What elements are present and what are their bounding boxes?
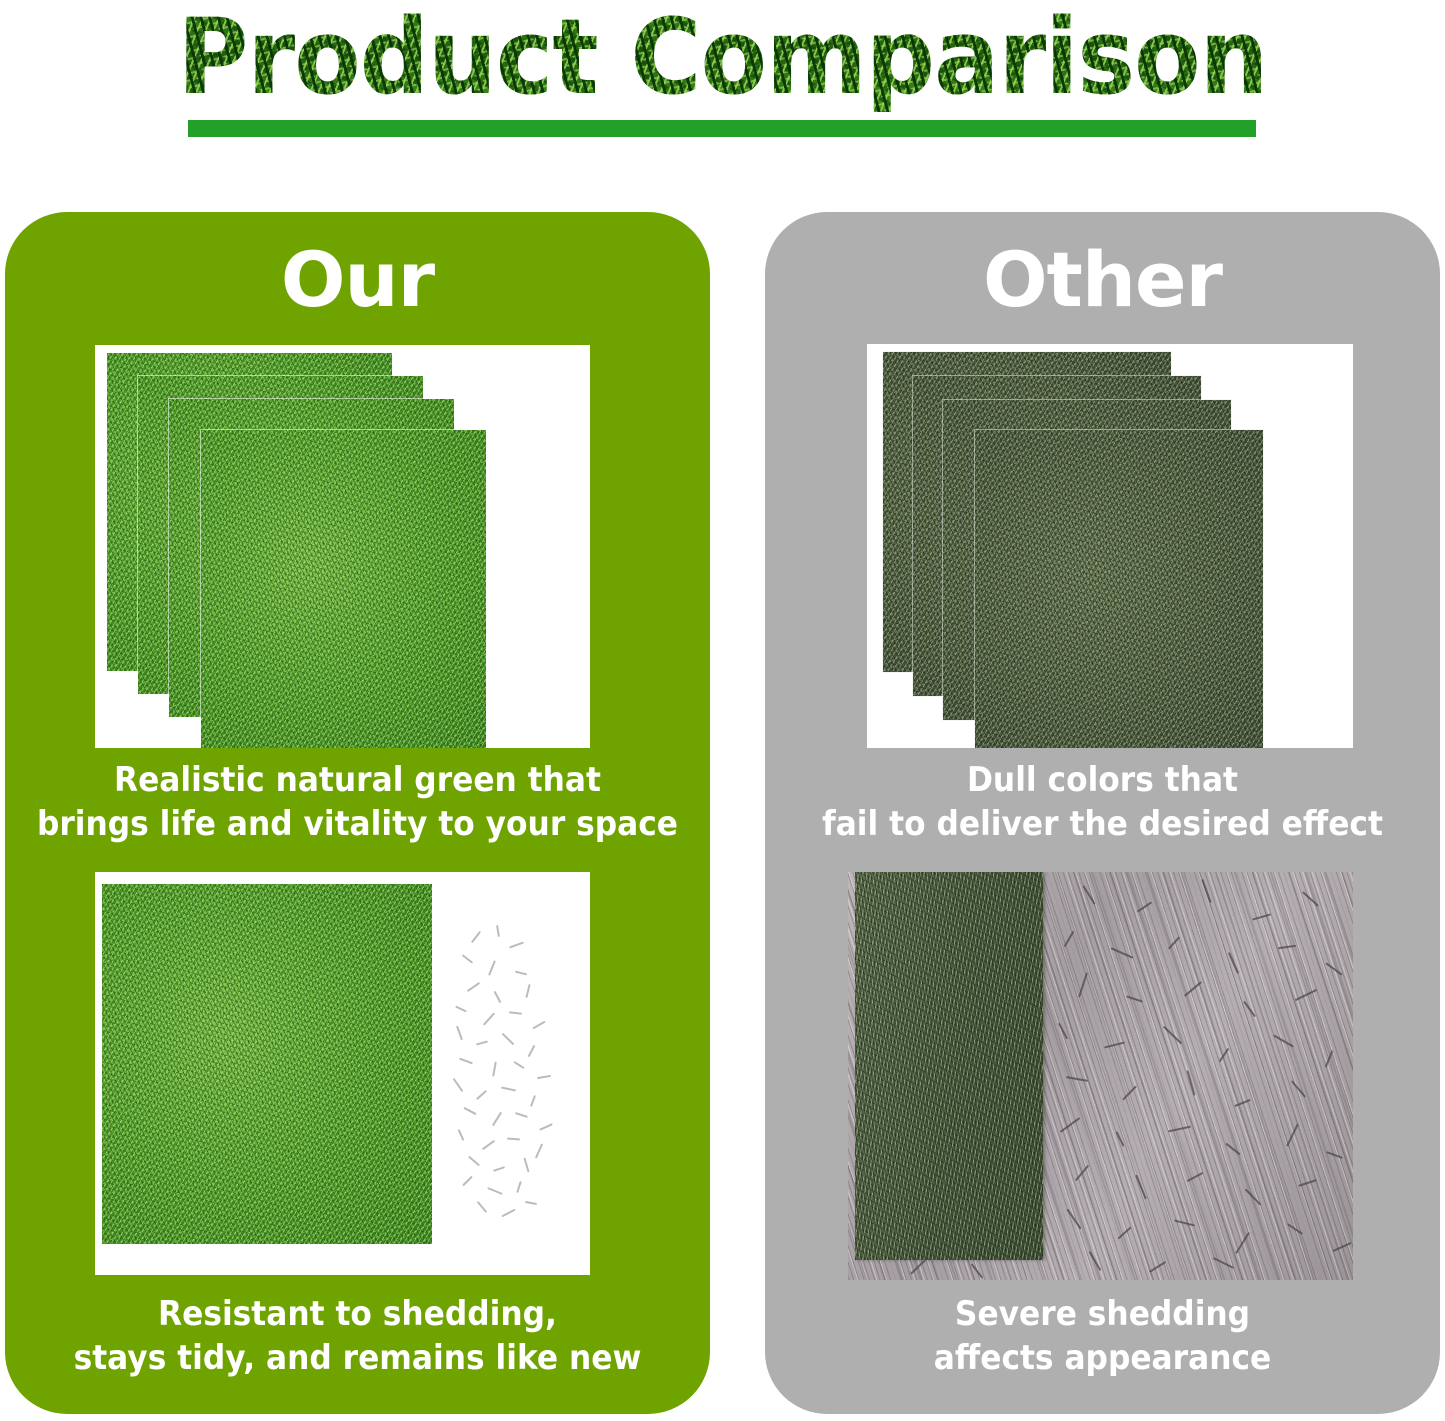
loose-fiber bbox=[467, 982, 480, 992]
loose-fiber bbox=[462, 1176, 473, 1187]
loose-fiber bbox=[492, 1061, 497, 1076]
panel-our-heading: Our bbox=[5, 240, 710, 320]
loose-fiber bbox=[476, 1040, 488, 1045]
loose-fiber bbox=[463, 1107, 476, 1115]
page-title: Product Comparison bbox=[51, 2, 1395, 112]
loose-fiber bbox=[456, 1026, 463, 1041]
image-our-stacked-mats bbox=[95, 345, 590, 748]
loose-fiber bbox=[477, 1201, 488, 1213]
title-underline-bar bbox=[188, 120, 1256, 137]
caption-other-color: Dull colors that fail to deliver the des… bbox=[792, 758, 1413, 846]
loose-fiber bbox=[515, 971, 527, 976]
loose-fiber bbox=[482, 1140, 495, 1150]
loose-fiber bbox=[476, 1090, 487, 1100]
loose-fiber bbox=[483, 1012, 495, 1025]
loose-fiber bbox=[459, 1058, 473, 1065]
loose-fiber bbox=[494, 991, 502, 1003]
loose-fiber bbox=[501, 1086, 516, 1091]
loose-fiber bbox=[525, 1201, 537, 1205]
panel-other: Other Dull colors that fail to deliver t… bbox=[765, 212, 1440, 1414]
loose-fiber bbox=[502, 1033, 515, 1046]
loose-fiber bbox=[537, 1075, 551, 1079]
loose-fiber bbox=[530, 1095, 536, 1107]
image-our-no-shedding bbox=[95, 872, 590, 1275]
loose-fiber bbox=[507, 1138, 520, 1141]
loose-fiber bbox=[496, 925, 500, 937]
loose-fiber bbox=[492, 1112, 502, 1127]
panel-other-heading: Other bbox=[765, 240, 1440, 320]
loose-fiber bbox=[468, 1156, 480, 1167]
loose-fiber bbox=[509, 1011, 522, 1015]
loose-fiber bbox=[462, 954, 473, 964]
loose-fiber bbox=[515, 1112, 528, 1118]
loose-fiber bbox=[539, 1123, 553, 1131]
loose-fiber bbox=[513, 1061, 524, 1069]
image-other-stacked-mats bbox=[867, 344, 1353, 748]
loose-fiber bbox=[471, 931, 481, 943]
loose-fiber bbox=[523, 1158, 529, 1173]
caption-our-color: Realistic natural green that brings life… bbox=[33, 758, 682, 846]
caption-other-shedding: Severe shedding affects appearance bbox=[792, 1292, 1413, 1380]
loose-fiber bbox=[528, 1045, 536, 1057]
title-banner: Product Comparison bbox=[0, 0, 1445, 200]
loose-fiber bbox=[458, 1129, 465, 1141]
loose-fiber bbox=[509, 941, 524, 948]
grass-mat-tile bbox=[201, 430, 486, 748]
loose-fiber bbox=[535, 1143, 543, 1158]
grass-mat-tile bbox=[102, 884, 432, 1244]
loose-fiber bbox=[501, 1209, 515, 1218]
loose-fiber bbox=[487, 1187, 503, 1195]
loose-fiber bbox=[493, 1166, 505, 1172]
loose-fiber bbox=[516, 1181, 522, 1193]
panel-our: Our Realistic natural green that brings … bbox=[5, 212, 710, 1414]
loose-fiber bbox=[455, 1006, 467, 1013]
loose-fiber bbox=[532, 1021, 545, 1030]
loose-fiber bbox=[453, 1078, 464, 1092]
image-other-shedding bbox=[848, 872, 1353, 1280]
loose-fiber bbox=[488, 960, 496, 976]
grass-mat-tile bbox=[975, 430, 1263, 748]
loose-fiber bbox=[525, 984, 530, 998]
turf-strip bbox=[855, 872, 1043, 1260]
caption-our-shedding: Resistant to shedding, stays tidy, and r… bbox=[33, 1292, 682, 1380]
